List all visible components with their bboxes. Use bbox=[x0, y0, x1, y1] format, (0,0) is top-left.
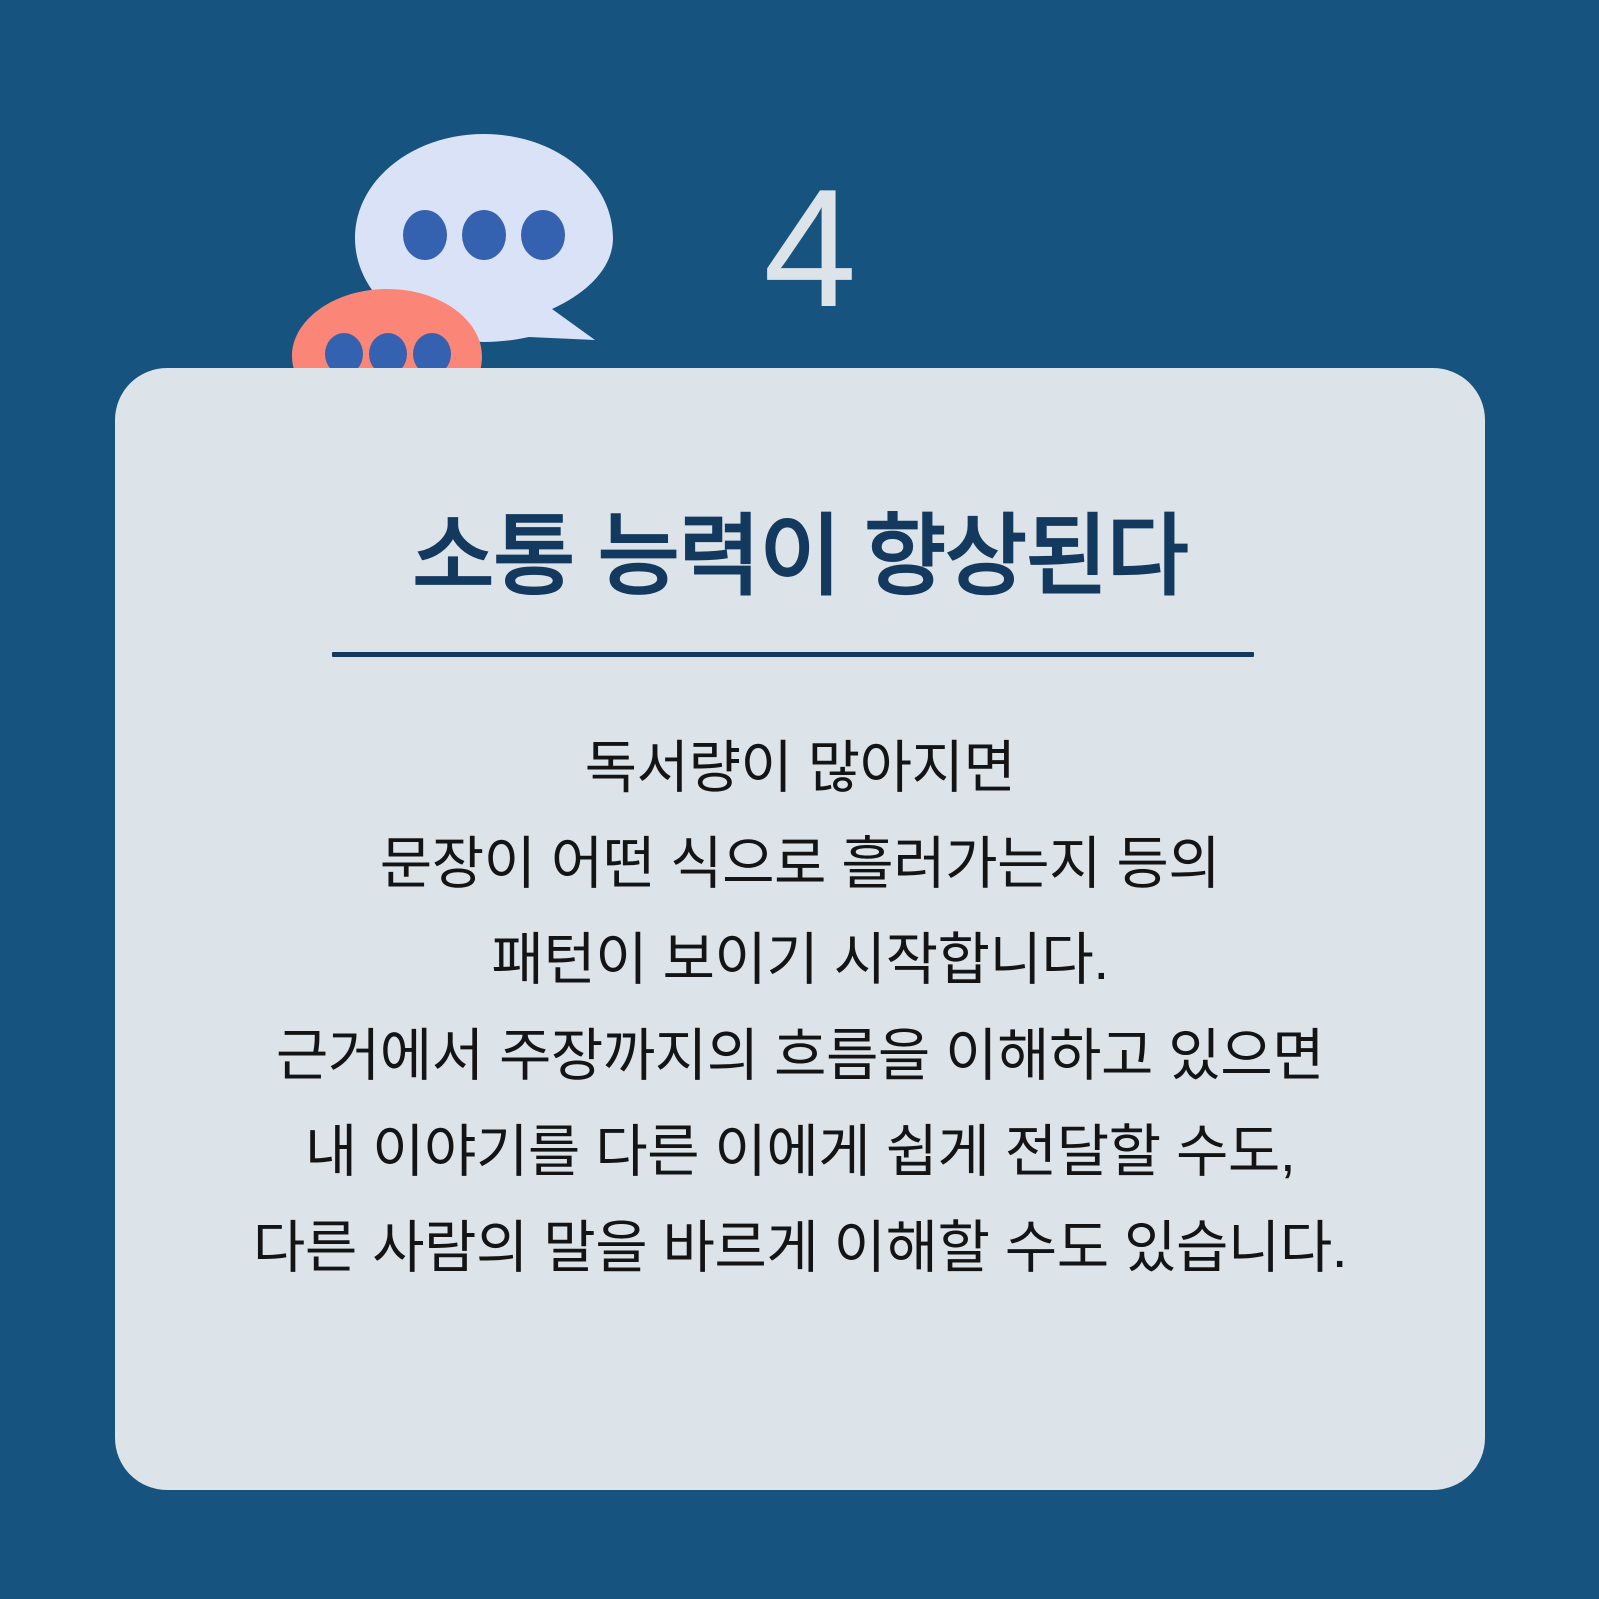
slide-canvas: 4 소통 능력이 향상된다 독서량이 많아지면 문장이 어떤 식으로 흘러가는지… bbox=[0, 0, 1599, 1599]
card-title: 소통 능력이 향상된다 bbox=[115, 508, 1485, 604]
content-card: 소통 능력이 향상된다 독서량이 많아지면 문장이 어떤 식으로 흘러가는지 등… bbox=[115, 368, 1485, 1490]
body-line: 독서량이 많아지면 bbox=[155, 720, 1445, 816]
body-line: 다른 사람의 말을 바르게 이해할 수도 있습니다. bbox=[155, 1200, 1445, 1296]
body-line: 문장이 어떤 식으로 흘러가는지 등의 bbox=[155, 816, 1445, 912]
body-line: 내 이야기를 다른 이에게 쉽게 전달할 수도, bbox=[155, 1104, 1445, 1200]
card-body: 독서량이 많아지면 문장이 어떤 식으로 흘러가는지 등의 패턴이 보이기 시작… bbox=[155, 720, 1445, 1296]
title-divider bbox=[332, 652, 1254, 657]
lavender-dot-2 bbox=[462, 210, 506, 260]
body-line: 패턴이 보이기 시작합니다. bbox=[155, 912, 1445, 1008]
lavender-dot-3 bbox=[521, 210, 565, 260]
lavender-dot-1 bbox=[403, 210, 447, 260]
speech-bubble-lavender-icon bbox=[355, 134, 613, 342]
body-line: 근거에서 주장까지의 흐름을 이해하고 있으면 bbox=[155, 1008, 1445, 1104]
step-number: 4 bbox=[700, 164, 920, 332]
